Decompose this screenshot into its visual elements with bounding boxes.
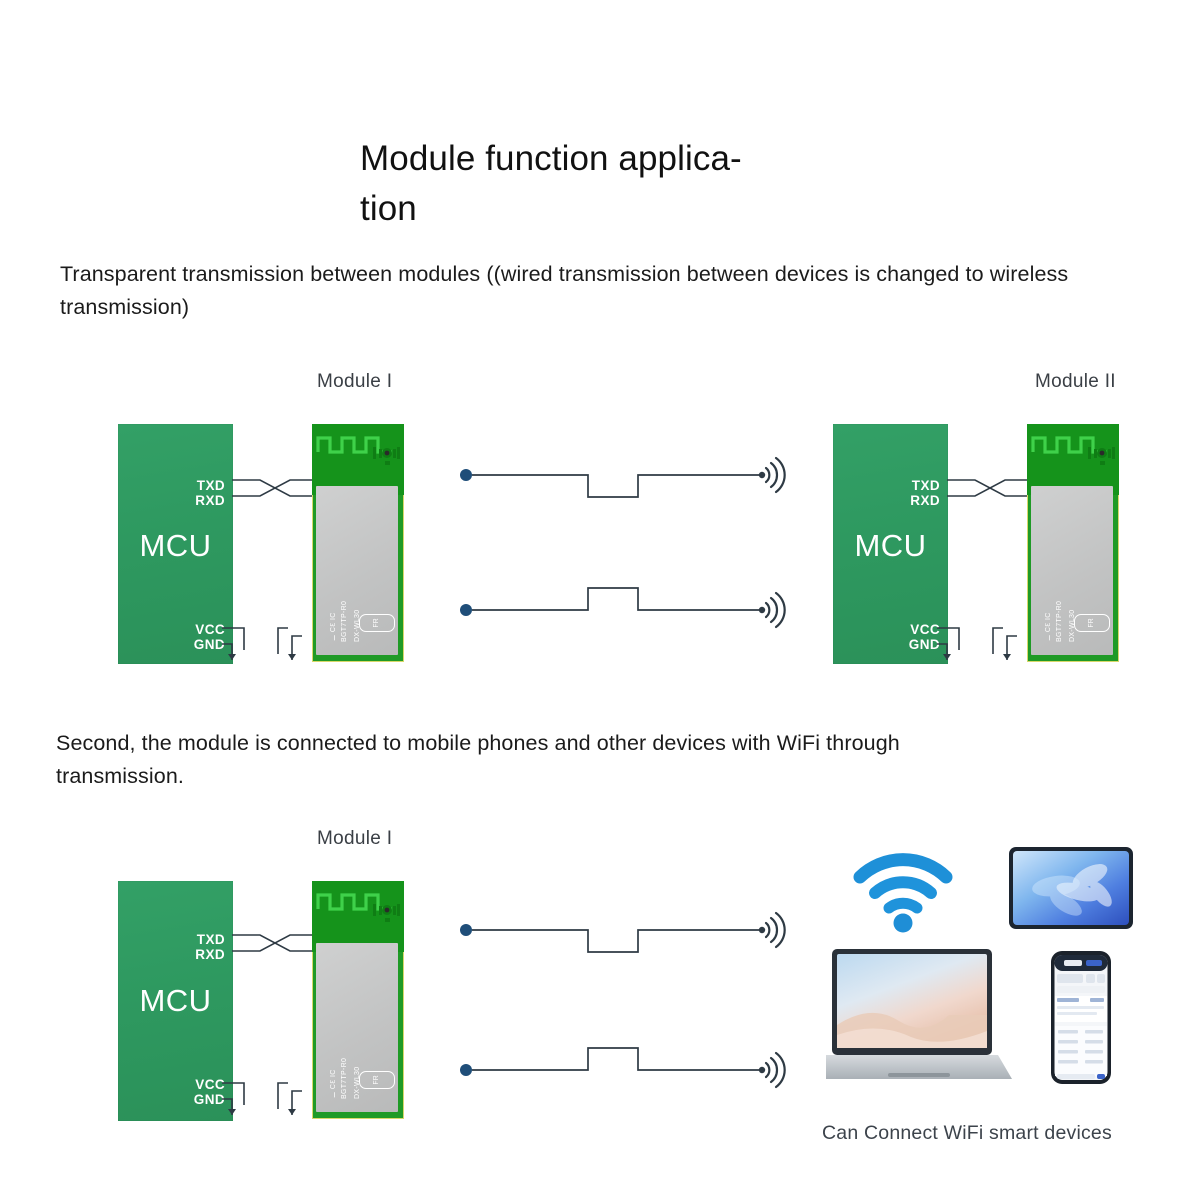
pcb-mark-model-code: BGT7TP-R0	[341, 1058, 348, 1099]
pcb-mark-model-code: BGT7TP-R0	[341, 601, 348, 642]
wireless-link-lines-bottom	[460, 905, 800, 1090]
rf-shield-clip-icon	[372, 444, 402, 466]
wifi-module-pcb-top-right: ⚊ Cℇ IC BGT7TP-R0 DX-WL30 FR IW	[1027, 424, 1119, 662]
smartphone-device	[1050, 950, 1112, 1085]
uart-crossover-wires-top-left	[232, 470, 317, 505]
wireless-link-lines-top	[460, 450, 800, 630]
mcu-pins-vcc-gnd-bottom-left: VCC GND	[118, 1077, 225, 1107]
pcb-mark-ce-ic: ⚊ Cℇ IC	[329, 612, 337, 641]
pin-label-vcc: VCC	[118, 1077, 225, 1092]
pin-label-txd: TXD	[118, 932, 225, 947]
pcb-shield-can: ⚊ Cℇ IC BGT7TP-R0 DX-WL30 FR IW	[1031, 486, 1114, 655]
module-label-top-right: Module II	[1035, 371, 1116, 393]
mcu-pins-vcc-gnd-top-left: VCC GND	[118, 622, 225, 652]
page-title-line-1: Module function applica-	[360, 134, 830, 184]
mcu-pins-txd-rxd-bottom-left: TXD RXD	[118, 932, 225, 962]
pcb-logo-badge: FR IW	[359, 1071, 395, 1089]
pin-label-vcc: VCC	[118, 622, 225, 637]
pcb-mark-ce-ic: ⚊ Cℇ IC	[329, 1069, 337, 1098]
pin-label-rxd: RXD	[833, 493, 940, 508]
pin-label-gnd: GND	[833, 637, 940, 652]
mcu-name-bottom-left: MCU	[118, 983, 233, 1019]
pcb-shield-can: ⚊ Cℇ IC BGT7TP-R0 DX-WL30 FR IW	[316, 486, 399, 655]
mcu-name-top-right: MCU	[833, 528, 948, 564]
paragraph-transparent-transmission: Transparent transmission between modules…	[60, 258, 1120, 324]
mcu-pins-vcc-gnd-top-right: VCC GND	[833, 622, 940, 652]
uart-crossover-wires-top-right	[947, 470, 1032, 505]
link-return-dot	[460, 604, 472, 616]
page-title: Module function applica- tion	[360, 134, 830, 234]
device-cluster-caption: Can Connect WiFi smart devices	[822, 1122, 1112, 1145]
module-label-bottom-left: Module I	[317, 828, 392, 850]
uart-crossover-wires-bottom-left	[232, 925, 317, 960]
wifi-icon	[848, 843, 958, 935]
page-title-line-2: tion	[360, 184, 830, 234]
laptop-device	[826, 947, 1012, 1087]
paragraph-phone-connection: Second, the module is connected to mobil…	[56, 727, 956, 793]
rf-shield-clip-icon	[1087, 444, 1117, 466]
module-label-top-left: Module I	[317, 371, 392, 393]
power-ground-wires-top-left	[222, 620, 322, 676]
diagram-page: Module function applica- tion Transparen…	[0, 0, 1200, 1200]
pin-label-vcc: VCC	[833, 622, 940, 637]
wifi-module-pcb-bottom-left: ⚊ Cℇ IC BGT7TP-R0 DX-WL30 FR IW	[312, 881, 404, 1119]
mcu-pins-txd-rxd-top-left: TXD RXD	[118, 478, 225, 508]
pcb-logo-badge: FR IW	[359, 614, 395, 632]
pcb-logo-badge: FR IW	[1074, 614, 1110, 632]
pin-label-gnd: GND	[118, 1092, 225, 1107]
pcb-shield-can: ⚊ Cℇ IC BGT7TP-R0 DX-WL30 FR IW	[316, 943, 399, 1112]
mcu-pins-txd-rxd-top-right: TXD RXD	[833, 478, 940, 508]
power-ground-wires-top-right	[937, 620, 1037, 676]
pin-label-gnd: GND	[118, 637, 225, 652]
pin-label-txd: TXD	[118, 478, 225, 493]
power-ground-wires-bottom-left	[222, 1075, 322, 1131]
pin-label-txd: TXD	[833, 478, 940, 493]
mcu-name-top-left: MCU	[118, 528, 233, 564]
pin-label-rxd: RXD	[118, 947, 225, 962]
link-source-dot	[460, 469, 472, 481]
wifi-module-pcb-top-left: ⚊ Cℇ IC BGT7TP-R0 DX-WL30 FR IW	[312, 424, 404, 662]
pcb-mark-ce-ic: ⚊ Cℇ IC	[1044, 612, 1052, 641]
link-return-dot	[460, 1064, 472, 1076]
tablet-device	[1008, 846, 1134, 930]
rf-shield-clip-icon	[372, 901, 402, 923]
link-source-dot	[460, 924, 472, 936]
pcb-mark-model-code: BGT7TP-R0	[1056, 601, 1063, 642]
pin-label-rxd: RXD	[118, 493, 225, 508]
